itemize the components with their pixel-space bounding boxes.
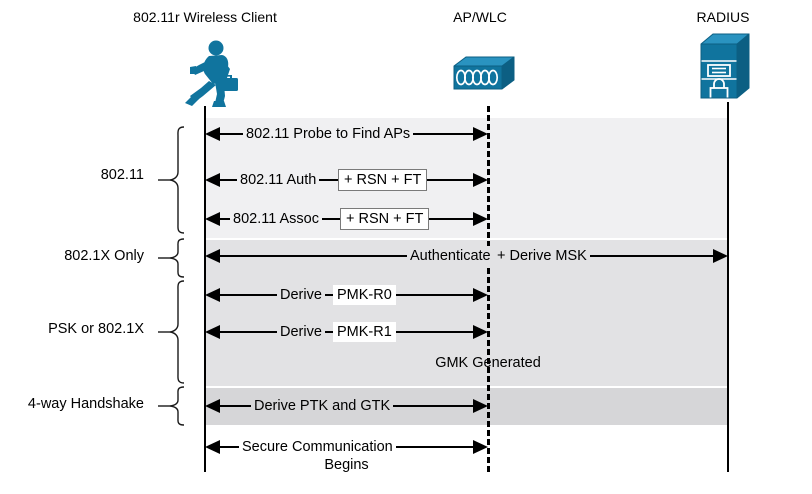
- phase-label-psk-or-802-1x: PSK or 802.1X: [20, 321, 144, 337]
- phase-label-802-1x-only: 802.1X Only: [38, 248, 144, 264]
- phase-brace-802-11: [158, 126, 188, 234]
- message-row-assoc: 802.11 Assoc + RSN + FT: [205, 209, 488, 229]
- message-row-probe: 802.11 Probe to Find APs: [205, 124, 488, 144]
- message-chip-pmk-r0: PMK-R0: [333, 285, 396, 305]
- sequence-diagram: 802.11r Wireless Client AP/WLC RADIUS: [0, 0, 812, 494]
- phase-brace-802-1x-only: [158, 238, 188, 278]
- phase-label-802-11: 802.11: [38, 167, 144, 183]
- message-chip-assoc-rsn-ft: + RSN + FT: [340, 208, 429, 230]
- phase-brace-psk-or-802-1x: [158, 280, 188, 384]
- message-chip-auth-rsn-ft: + RSN + FT: [338, 169, 427, 191]
- column-title-apwlc: AP/WLC: [420, 10, 540, 25]
- phase-label-4-way-handshake: 4-way Handshake: [16, 396, 144, 412]
- message-label-derive-msk: + Derive MSK: [494, 246, 590, 266]
- lifeline-radius: [727, 102, 729, 472]
- message-label-ptk-gtk: Derive PTK and GTK: [251, 396, 393, 416]
- message-row-pmk-r0: Derive PMK-R0: [205, 285, 488, 305]
- message-row-ptk-gtk: Derive PTK and GTK: [205, 396, 488, 416]
- message-chip-pmk-r1: PMK-R1: [333, 322, 396, 342]
- message-label-pmk-r0: Derive: [277, 285, 325, 305]
- message-label-auth: 802.11 Auth: [237, 170, 319, 190]
- note-gmk-generated: GMK Generated: [398, 355, 578, 371]
- phase-brace-4-way-handshake: [158, 386, 188, 426]
- message-row-authenticate-msk: Authenticate + Derive MSK: [205, 246, 728, 266]
- message-label-probe: 802.11 Probe to Find APs: [243, 124, 413, 144]
- message-row-secure-comm: Secure Communication: [205, 437, 488, 457]
- message-row-auth: 802.11 Auth + RSN + FT: [205, 170, 488, 190]
- column-title-radius: RADIUS: [668, 10, 778, 25]
- message-label-authenticate: Authenticate: [407, 246, 494, 266]
- message-row-pmk-r1: Derive PMK-R1: [205, 322, 488, 342]
- message-label-pmk-r1: Derive: [277, 322, 325, 342]
- message-label-secure-comm: Secure Communication: [239, 437, 396, 457]
- walking-businessperson-icon: [172, 38, 242, 110]
- radius-server-icon: [697, 32, 753, 104]
- wireless-access-point-icon: [444, 56, 516, 94]
- message-label-assoc: 802.11 Assoc: [230, 209, 322, 229]
- message-sublabel-secure-comm-begins: Begins: [205, 457, 488, 473]
- column-title-client: 802.11r Wireless Client: [95, 10, 315, 25]
